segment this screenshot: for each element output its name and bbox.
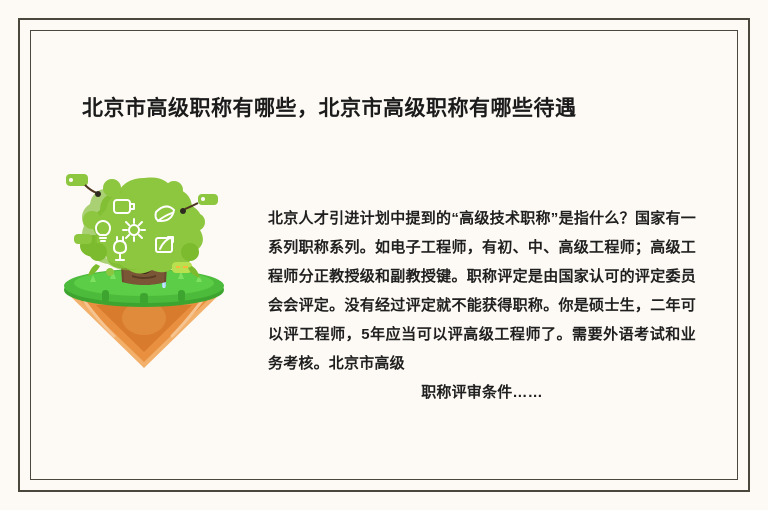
article-body: 北京人才引进计划中提到的“高级技术职称”是指什么？国家有一系列职称系列。如电子工…	[268, 204, 696, 407]
tag-left-low	[74, 234, 92, 244]
article-body-text: 北京人才引进计划中提到的“高级技术职称”是指什么？国家有一系列职称系列。如电子工…	[268, 210, 696, 372]
article-body-tail: 职称评审条件……	[268, 378, 696, 407]
price-tag-top	[66, 174, 101, 197]
article-page: 北京市高级职称有哪些，北京市高级职称有哪些待遇	[0, 0, 768, 510]
eco-island-illustration	[52, 172, 234, 368]
tree-canopy	[82, 177, 205, 273]
page-title: 北京市高级职称有哪些，北京市高级职称有哪些待遇	[82, 94, 692, 124]
